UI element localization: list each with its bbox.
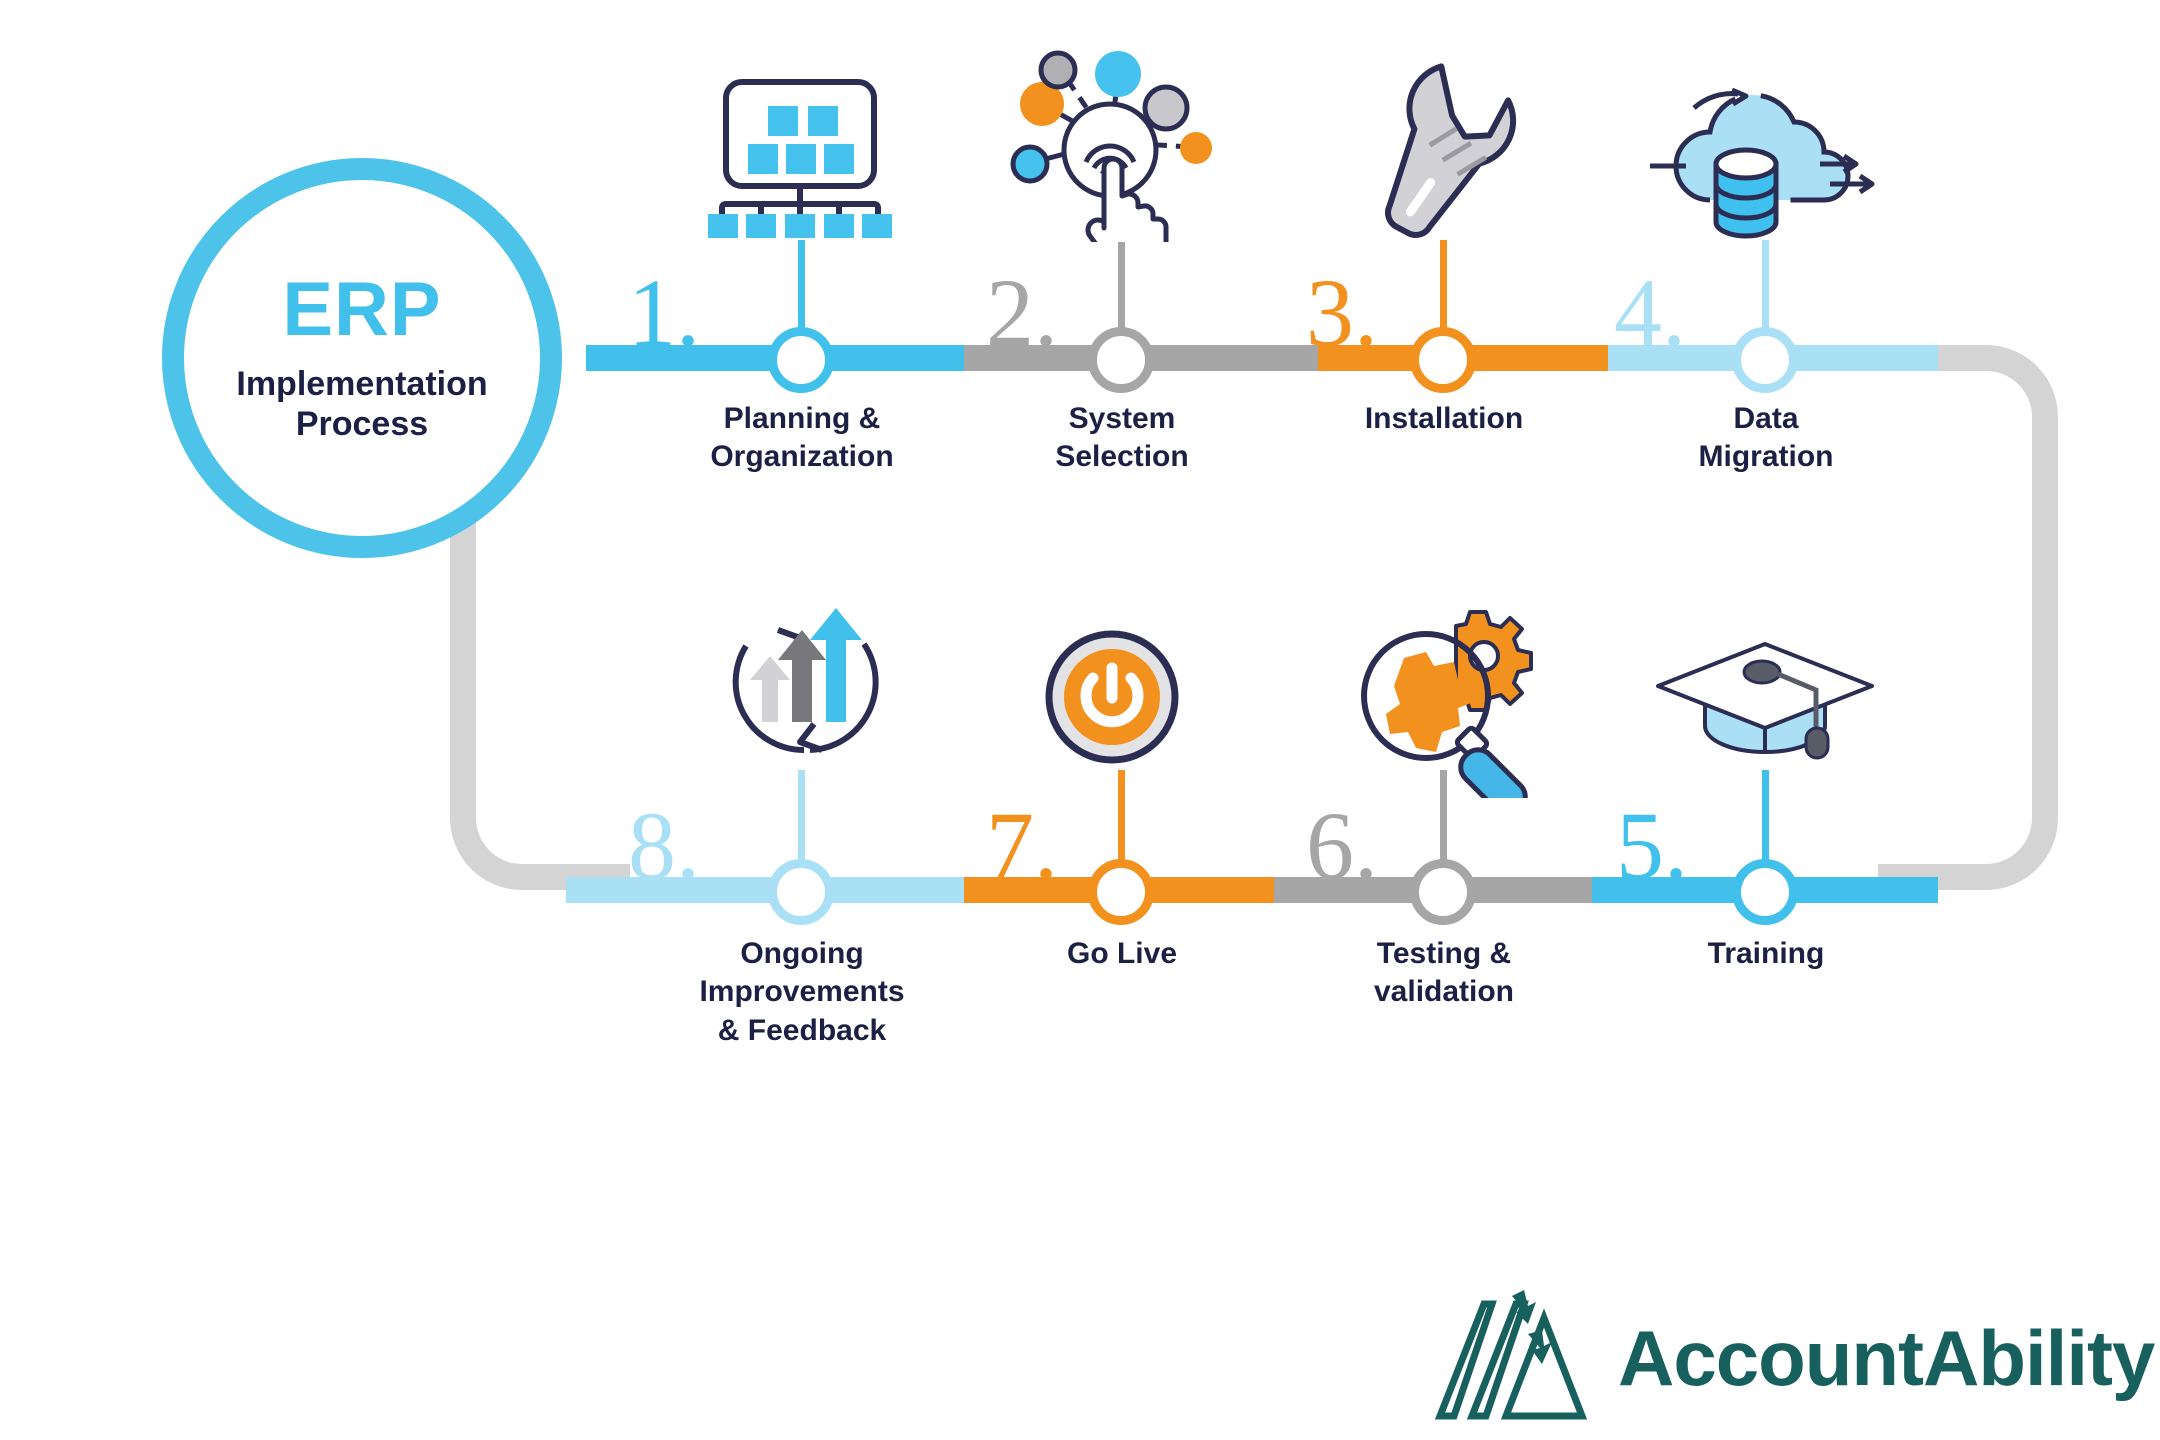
caption-step-1: Planning & Organization xyxy=(652,400,952,477)
network-touch-icon xyxy=(1000,42,1220,247)
caption-step-5: Training xyxy=(1616,935,1916,973)
step-number-7: 7. xyxy=(986,798,1058,894)
caption-step-1-line2: Organization xyxy=(652,438,952,476)
caption-step-2-line1: System xyxy=(972,400,1272,438)
step-number-2: 2. xyxy=(986,265,1058,361)
node-step-6[interactable] xyxy=(1410,859,1476,925)
step-number-1: 1. xyxy=(628,265,700,361)
node-step-1[interactable] xyxy=(768,327,834,393)
growth-cycle-icon xyxy=(716,596,896,771)
logo-text: AccountAbility xyxy=(1618,1319,2154,1397)
node-step-4[interactable] xyxy=(1732,327,1798,393)
step-number-8: 8. xyxy=(628,798,700,894)
caption-step-6-line1: Testing & xyxy=(1294,935,1594,973)
caption-step-8-line2: Improvements xyxy=(652,973,952,1011)
hub-subtitle-line1: Implementation xyxy=(236,364,487,404)
caption-step-7: Go Live xyxy=(972,935,1272,973)
caption-step-8: Ongoing Improvements & Feedback xyxy=(652,935,952,1050)
node-step-5[interactable] xyxy=(1732,859,1798,925)
caption-step-3: Installation xyxy=(1294,400,1594,438)
hub-subtitle-line2: Process xyxy=(236,404,487,444)
org-chart-icon xyxy=(700,78,900,243)
hub-title: ERP xyxy=(282,272,441,348)
magnifier-gear-icon xyxy=(1352,608,1552,803)
accountability-logo: AccountAbility xyxy=(1432,1290,2154,1425)
ascending-bars-logo-mark xyxy=(1432,1290,1592,1425)
node-step-7[interactable] xyxy=(1088,859,1154,925)
connector-left-loop xyxy=(450,490,630,890)
step-number-5: 5. xyxy=(1616,798,1688,894)
caption-step-8-line1: Ongoing xyxy=(652,935,952,973)
caption-step-5-line1: Training xyxy=(1616,935,1916,973)
node-step-3[interactable] xyxy=(1410,327,1476,393)
node-step-2[interactable] xyxy=(1088,327,1154,393)
caption-step-6: Testing & validation xyxy=(1294,935,1594,1012)
caption-step-7-line1: Go Live xyxy=(972,935,1272,973)
caption-step-2-line2: Selection xyxy=(972,438,1272,476)
caption-step-8-line3: & Feedback xyxy=(652,1012,952,1050)
erp-hub-circle: ERP Implementation Process xyxy=(162,158,562,558)
caption-step-4-line1: Data xyxy=(1616,400,1916,438)
graduation-cap-icon xyxy=(1650,630,1880,775)
wrench-icon xyxy=(1340,62,1530,247)
step-number-4: 4. xyxy=(1614,265,1686,361)
rail-step-8 xyxy=(566,877,964,903)
caption-step-1-line1: Planning & xyxy=(652,400,952,438)
node-step-8[interactable] xyxy=(768,859,834,925)
step-number-6: 6. xyxy=(1306,798,1378,894)
caption-step-2: System Selection xyxy=(972,400,1272,477)
caption-step-4-line2: Migration xyxy=(1616,438,1916,476)
hub-subtitle: Implementation Process xyxy=(236,364,487,444)
caption-step-6-line2: validation xyxy=(1294,973,1594,1011)
step-number-3: 3. xyxy=(1306,265,1378,361)
cloud-database-icon xyxy=(1650,80,1880,245)
infographic-canvas: 1. Planning & Organization 2. xyxy=(0,0,2160,1440)
caption-step-4: Data Migration xyxy=(1616,400,1916,477)
power-button-icon xyxy=(1032,622,1192,777)
caption-step-3-line1: Installation xyxy=(1294,400,1594,438)
